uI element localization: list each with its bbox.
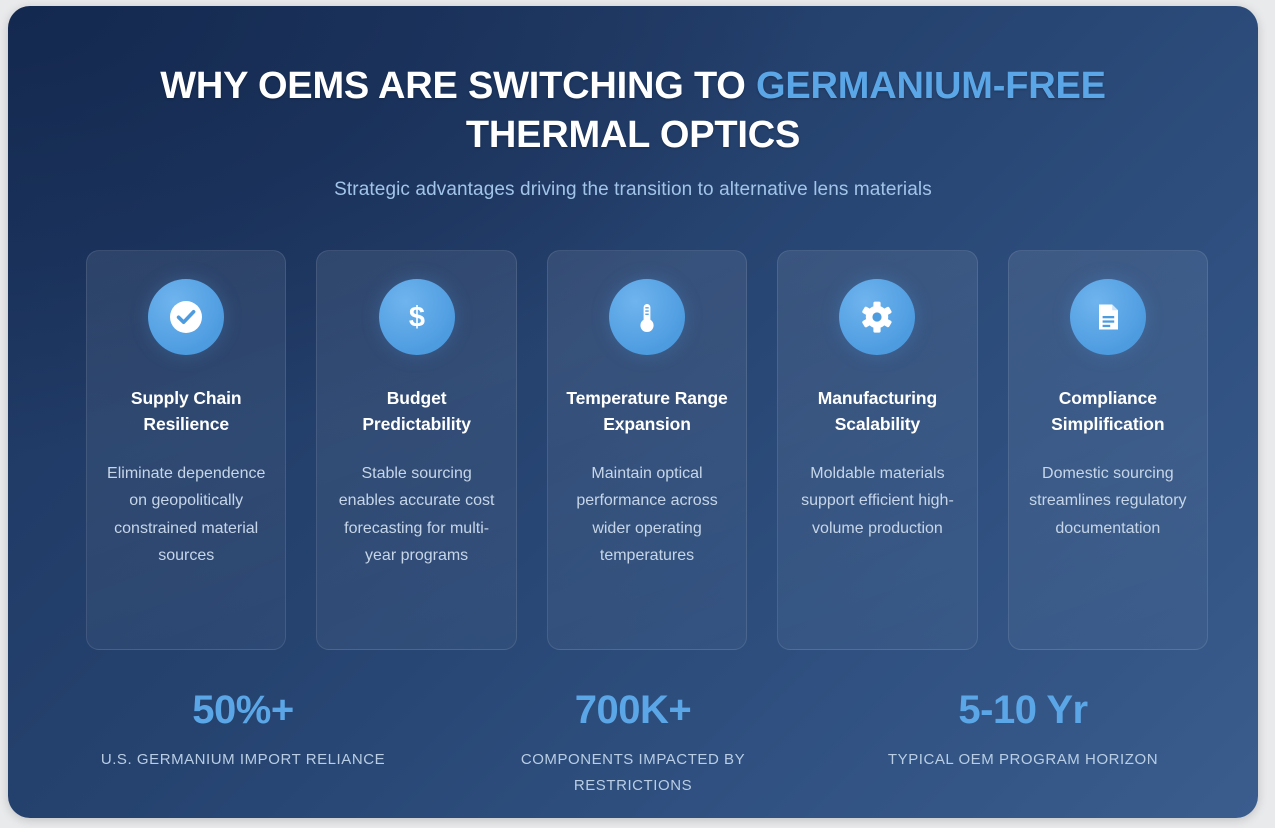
benefit-cards: Supply Chain Resilience Eliminate depend… — [86, 250, 1208, 650]
header: WHY OEMS ARE SWITCHING TO GERMANIUM-FREE… — [8, 6, 1258, 201]
card-description: Maintain optical performance across wide… — [562, 460, 732, 570]
card-title: Supply Chain Resilience — [101, 385, 271, 438]
page-title: WHY OEMS ARE SWITCHING TO GERMANIUM-FREE… — [8, 62, 1258, 159]
infographic-panel: WHY OEMS ARE SWITCHING TO GERMANIUM-FREE… — [8, 6, 1258, 818]
stat-label: U.S. GERMANIUM IMPORT RELIANCE — [72, 747, 414, 773]
stat-value: 50%+ — [72, 690, 414, 730]
benefit-card-manufacturing-scalability[interactable]: Manufacturing Scalability Moldable mater… — [777, 250, 977, 650]
document-icon — [1070, 279, 1146, 355]
card-title: Compliance Simplification — [1023, 385, 1193, 438]
stat-oem-program-horizon: 5-10 Yr TYPICAL OEM PROGRAM HORIZON — [828, 690, 1218, 800]
check-circle-icon — [148, 279, 224, 355]
benefit-card-budget-predictability[interactable]: $ Budget Predictability Stable sourcing … — [316, 250, 516, 650]
stats-row: 50%+ U.S. GERMANIUM IMPORT RELIANCE 700K… — [48, 690, 1218, 800]
dollar-sign-icon: $ — [379, 279, 455, 355]
svg-text:$: $ — [409, 302, 425, 334]
stat-value: 700K+ — [462, 690, 804, 730]
title-part-2: THERMAL OPTICS — [466, 114, 800, 156]
gear-icon — [839, 279, 915, 355]
stat-germanium-import-reliance: 50%+ U.S. GERMANIUM IMPORT RELIANCE — [48, 690, 438, 800]
card-title: Budget Predictability — [331, 385, 501, 438]
stat-label: TYPICAL OEM PROGRAM HORIZON — [852, 747, 1194, 773]
stat-components-impacted: 700K+ COMPONENTS IMPACTED BY RESTRICTION… — [438, 690, 828, 800]
card-description: Domestic sourcing streamlines regulatory… — [1023, 460, 1193, 543]
card-description: Eliminate dependence on geopolitically c… — [101, 460, 271, 570]
stat-label: COMPONENTS IMPACTED BY RESTRICTIONS — [462, 747, 804, 800]
thermometer-icon — [609, 279, 685, 355]
benefit-card-supply-chain-resilience[interactable]: Supply Chain Resilience Eliminate depend… — [86, 250, 286, 650]
title-accent: GERMANIUM-FREE — [756, 65, 1106, 107]
stat-value: 5-10 Yr — [852, 690, 1194, 730]
card-description: Stable sourcing enables accurate cost fo… — [331, 460, 501, 570]
card-title: Temperature Range Expansion — [562, 385, 732, 438]
title-part-1: WHY OEMS ARE SWITCHING TO — [160, 65, 756, 107]
page-subtitle: Strategic advantages driving the transit… — [8, 179, 1258, 201]
card-description: Moldable materials support efficient hig… — [792, 460, 962, 543]
benefit-card-compliance-simplification[interactable]: Compliance Simplification Domestic sourc… — [1008, 250, 1208, 650]
benefit-card-temperature-range-expansion[interactable]: Temperature Range Expansion Maintain opt… — [547, 250, 747, 650]
card-title: Manufacturing Scalability — [792, 385, 962, 438]
